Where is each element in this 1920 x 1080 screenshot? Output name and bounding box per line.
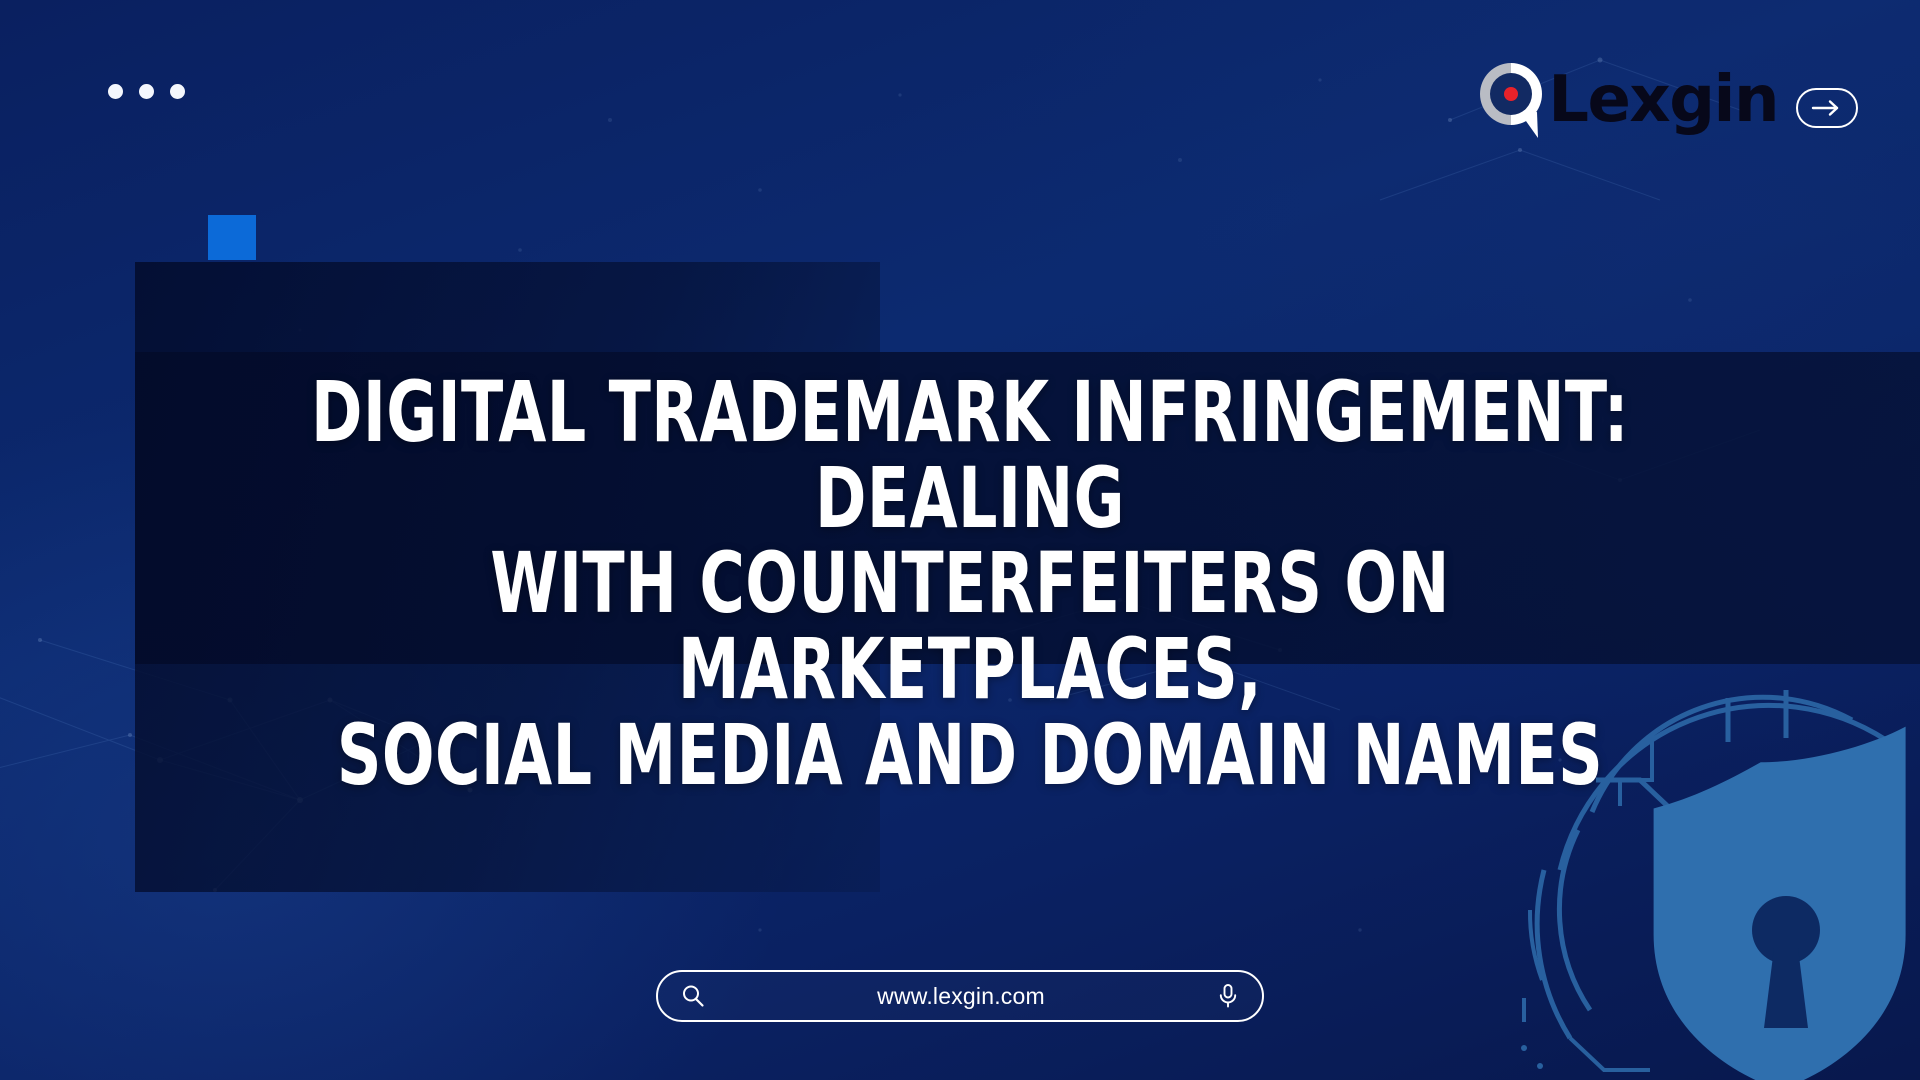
- arrow-right-icon: [1810, 99, 1844, 117]
- brand-logo[interactable]: Lexgin: [1474, 60, 1778, 138]
- search-value[interactable]: www.lexgin.com: [706, 983, 1216, 1010]
- shield-shape: [1654, 727, 1906, 1080]
- brand-name: Lexgin: [1548, 68, 1778, 132]
- keyhole-shape: [1752, 896, 1820, 1028]
- next-button[interactable]: [1796, 88, 1858, 128]
- search-input[interactable]: www.lexgin.com: [656, 970, 1264, 1022]
- search-icon[interactable]: [680, 983, 706, 1009]
- lexgin-target-pin-icon: [1474, 60, 1548, 138]
- dot-3: [170, 84, 185, 99]
- page-title: DIGITAL TRADEMARK INFRINGEMENT: DEALING …: [273, 370, 1667, 798]
- blue-square-accent: [208, 215, 256, 260]
- slide-canvas: Lexgin DIGITAL TRADEMARK INFRINGEMENT: D…: [0, 0, 1920, 1080]
- microphone-icon[interactable]: [1216, 983, 1240, 1009]
- dot-2: [139, 84, 154, 99]
- dot-1: [108, 84, 123, 99]
- three-dots-icon[interactable]: [108, 84, 185, 99]
